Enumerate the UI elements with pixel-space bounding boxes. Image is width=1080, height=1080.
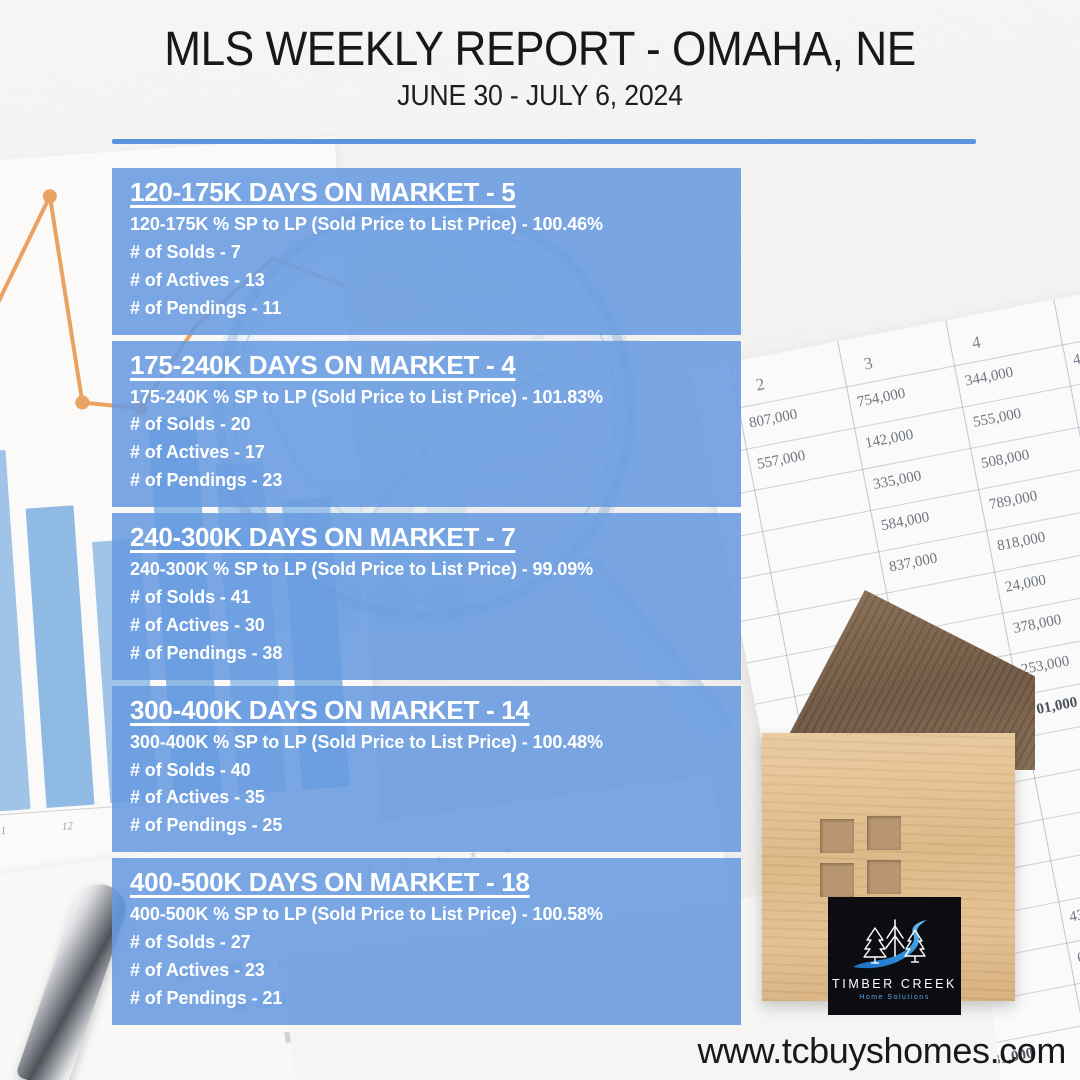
block-sp-to-lp: 120-175K % SP to LP (Sold Price to List … [130, 211, 723, 239]
block-pendings: # of Pendings - 25 [130, 812, 723, 840]
block-actives: # of Actives - 30 [130, 612, 723, 640]
block-title: 400-500K DAYS ON MARKET - 18 [130, 867, 723, 898]
block-pendings: # of Pendings - 21 [130, 985, 723, 1013]
block-title: 120-175K DAYS ON MARKET - 5 [130, 177, 723, 208]
price-range-block: 240-300K DAYS ON MARKET - 7 240-300K % S… [112, 513, 741, 680]
block-sp-to-lp: 240-300K % SP to LP (Sold Price to List … [130, 556, 723, 584]
block-title: 175-240K DAYS ON MARKET - 4 [130, 350, 723, 381]
price-range-block: 175-240K DAYS ON MARKET - 4 175-240K % S… [112, 341, 741, 508]
block-solds: # of Solds - 41 [130, 584, 723, 612]
report-foreground: MLS WEEKLY REPORT - OMAHA, NE JUNE 30 - … [0, 0, 1080, 1080]
page-subtitle: JUNE 30 - JULY 6, 2024 [43, 80, 1037, 113]
block-actives: # of Actives - 23 [130, 957, 723, 985]
logo-company-name: TIMBER CREEK [832, 977, 957, 991]
block-actives: # of Actives - 35 [130, 784, 723, 812]
block-solds: # of Solds - 20 [130, 411, 723, 439]
website-url[interactable]: www.tcbuyshomes.com [697, 1030, 1066, 1072]
logo-tagline: Home Solutions [859, 994, 929, 1001]
title-divider [112, 139, 976, 144]
price-range-block: 300-400K DAYS ON MARKET - 14 300-400K % … [112, 686, 741, 853]
block-title: 240-300K DAYS ON MARKET - 7 [130, 522, 723, 553]
block-pendings: # of Pendings - 11 [130, 295, 723, 323]
price-range-block: 120-175K DAYS ON MARKET - 5 120-175K % S… [112, 168, 741, 335]
block-actives: # of Actives - 13 [130, 267, 723, 295]
block-sp-to-lp: 175-240K % SP to LP (Sold Price to List … [130, 384, 723, 412]
block-solds: # of Solds - 27 [130, 929, 723, 957]
pine-trees-river-icon [847, 912, 943, 974]
block-pendings: # of Pendings - 38 [130, 640, 723, 668]
price-range-blocks: 120-175K DAYS ON MARKET - 5 120-175K % S… [112, 168, 741, 1031]
block-pendings: # of Pendings - 23 [130, 467, 723, 495]
timber-creek-logo[interactable]: TIMBER CREEK Home Solutions [828, 897, 961, 1015]
price-range-block: 400-500K DAYS ON MARKET - 18 400-500K % … [112, 858, 741, 1025]
page-title: MLS WEEKLY REPORT - OMAHA, NE [43, 22, 1037, 77]
block-title: 300-400K DAYS ON MARKET - 14 [130, 695, 723, 726]
block-sp-to-lp: 400-500K % SP to LP (Sold Price to List … [130, 901, 723, 929]
block-actives: # of Actives - 17 [130, 439, 723, 467]
block-solds: # of Solds - 7 [130, 239, 723, 267]
block-solds: # of Solds - 40 [130, 757, 723, 785]
block-sp-to-lp: 300-400K % SP to LP (Sold Price to List … [130, 729, 723, 757]
